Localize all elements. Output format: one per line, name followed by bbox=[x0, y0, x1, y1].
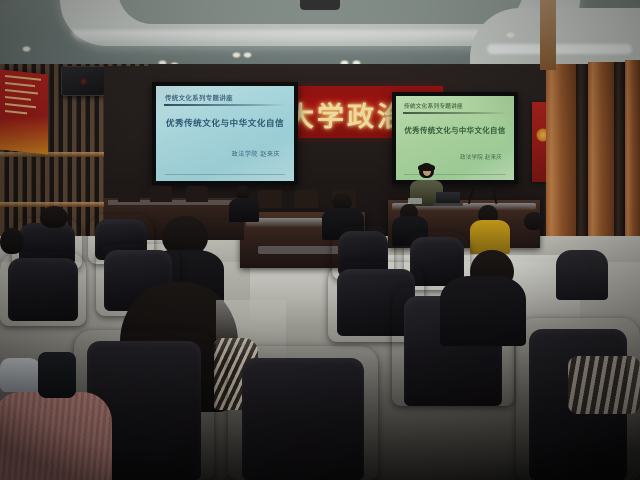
wall-poster-left bbox=[0, 69, 48, 154]
seat-cushion bbox=[8, 258, 78, 321]
stage-chair bbox=[118, 186, 140, 202]
projection-screen-right: 传统文化系列专题讲座 优秀传统文化与中华文化自信 政法学院 赵来庆 bbox=[392, 92, 518, 184]
seat-cushion bbox=[242, 358, 364, 480]
aisle-floor bbox=[216, 300, 286, 360]
ceiling-light-icon bbox=[506, 32, 515, 38]
audience-pink-sweater bbox=[0, 392, 112, 480]
audience-body bbox=[229, 198, 259, 222]
ceiling-light-icon bbox=[243, 52, 252, 58]
seat[interactable] bbox=[228, 346, 378, 480]
slide-title: 优秀传统文化与中华文化自信 bbox=[396, 125, 514, 136]
patterned-garment-right bbox=[568, 356, 640, 414]
ceiling-projector bbox=[300, 0, 340, 10]
slide-left: 传统文化系列专题讲座 优秀传统文化与中华文化自信 政法学院 赵来庆 bbox=[156, 86, 294, 181]
slide-header-rule bbox=[164, 104, 286, 106]
bag-left bbox=[38, 352, 76, 398]
slide-title: 优秀传统文化与中华文化自信 bbox=[156, 117, 294, 129]
lecture-hall-photo: 大学政治学 传统文化系列专题讲座 优秀传统文化与中华文化自信 政法学院 赵来庆 … bbox=[0, 0, 640, 480]
speaker-icon bbox=[61, 66, 105, 96]
audience-member bbox=[524, 212, 544, 230]
stage-chair bbox=[258, 190, 282, 208]
audience-member bbox=[40, 206, 68, 228]
projection-screen-left: 传统文化系列专题讲座 优秀传统文化与中华文化自信 政法学院 赵来庆 bbox=[152, 82, 298, 185]
slide-header-rule bbox=[403, 112, 507, 114]
audience-body-yellow bbox=[470, 220, 510, 254]
audience-member bbox=[0, 228, 24, 254]
stage-chair bbox=[150, 186, 172, 202]
presenter-hair-front bbox=[418, 164, 435, 171]
wood-column-top bbox=[540, 0, 556, 70]
slide-header: 传统文化系列专题讲座 bbox=[165, 93, 233, 102]
ceiling-right-light-strip bbox=[487, 44, 632, 54]
slide-header: 传统文化系列专题讲座 bbox=[404, 102, 463, 110]
speaker-cone bbox=[80, 78, 87, 85]
ceiling-light-icon bbox=[22, 46, 31, 52]
ceiling-light-icon bbox=[232, 52, 241, 58]
stage-chair bbox=[186, 186, 208, 202]
stage-chair bbox=[294, 190, 318, 208]
laptop-base bbox=[433, 203, 463, 206]
audience-member bbox=[556, 250, 608, 300]
seat[interactable] bbox=[0, 252, 86, 326]
slide-presenter: 政法学院 赵来庆 bbox=[232, 149, 280, 158]
wood-column bbox=[546, 64, 576, 264]
audience-body bbox=[440, 276, 526, 346]
slide-footer-rule bbox=[165, 174, 285, 175]
slide-presenter: 政法学院 赵来庆 bbox=[460, 153, 502, 161]
slide-right: 传统文化系列专题讲座 优秀传统文化与中华文化自信 政法学院 赵来庆 bbox=[396, 96, 514, 180]
